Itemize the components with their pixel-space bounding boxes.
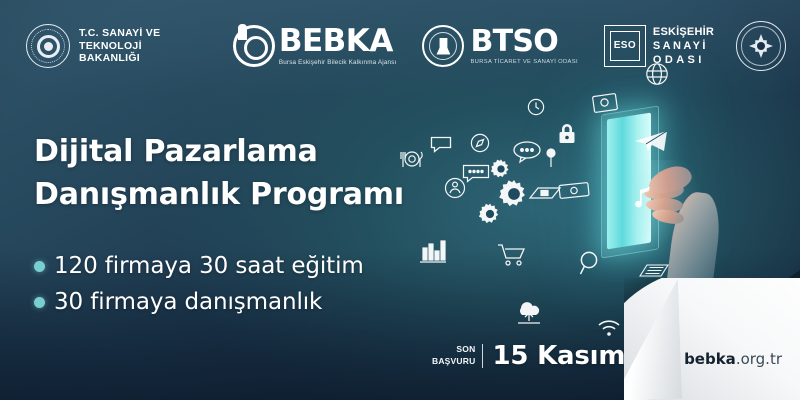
turkish-ministry-seal-icon (26, 24, 70, 68)
logo-eso-mark-text: ESO (614, 40, 636, 51)
list-item-label: 120 firmaya 30 saat eğitim (54, 255, 364, 278)
headline-line2: Danışmanlık Programı (34, 174, 404, 217)
logo-bebka-name: BEBKA (279, 26, 397, 57)
list-item: 120 firmaya 30 saat eğitim (34, 255, 364, 278)
deadline-label-line2: BAŞVURU (432, 356, 475, 368)
feature-list: 120 firmaya 30 saat eğitim 30 firmaya da… (34, 255, 364, 327)
page-title: Dijital Pazarlama Danışmanlık Programı (34, 131, 404, 216)
bullet-dot-icon (34, 297, 45, 308)
logo-btso[interactable]: BTSO BURSA TİCARET VE SANAYİ ODASI (422, 25, 577, 67)
logo-btso-name: BTSO (470, 27, 577, 57)
website-url[interactable]: bebka.org.tr (684, 350, 782, 368)
headline-line1: Dijital Pazarlama (34, 134, 318, 169)
bullet-dot-icon (34, 261, 45, 272)
eso-square-icon: ESO (604, 25, 646, 67)
logo-eso-line3: ODASI (653, 53, 714, 67)
logo-bebka[interactable]: BEBKA Bursa Eskişehir Bilecik Kalkınma A… (233, 25, 397, 67)
logo-eso-line1: ESKİŞEHİR (653, 25, 714, 39)
logo-bebka-subtitle: Bursa Eskişehir Bilecik Kalkınma Ajansı (279, 60, 397, 66)
list-item: 30 firmaya danışmanlık (34, 291, 364, 314)
list-item-label: 30 firmaya danışmanlık (54, 291, 322, 314)
bebka-spiral-icon (233, 25, 275, 67)
website-name: bebka (684, 350, 736, 368)
logo-ministry-line2: TEKNOLOJİ BAKANLIĞI (79, 40, 203, 66)
logo-ministry-text: T.C. SANAYİ VE TEKNOLOJİ BAKANLIĞI (79, 27, 203, 65)
bilecik-chamber-seal-icon[interactable] (736, 21, 786, 71)
logo-ministry[interactable]: T.C. SANAYİ VE TEKNOLOJİ BAKANLIĞI (26, 24, 203, 68)
logo-eso-line2: SANAYİ (653, 39, 714, 53)
website-tld: .org.tr (736, 350, 782, 368)
deadline-label: SON BAŞVURU (432, 344, 483, 367)
logo-ministry-line1: T.C. SANAYİ VE (79, 27, 203, 40)
btso-gear-seal-icon (422, 25, 464, 67)
logo-btso-subtitle: BURSA TİCARET VE SANAYİ ODASI (470, 60, 577, 66)
logo-eso[interactable]: ESO ESKİŞEHİR SANAYİ ODASI (604, 25, 714, 67)
partner-logo-bar: T.C. SANAYİ VE TEKNOLOJİ BAKANLIĞI BEBKA… (0, 0, 800, 92)
page-curl (624, 278, 800, 400)
deadline-label-line1: SON (432, 344, 475, 356)
promo-banner: T.C. SANAYİ VE TEKNOLOJİ BAKANLIĞI BEBKA… (0, 0, 800, 400)
